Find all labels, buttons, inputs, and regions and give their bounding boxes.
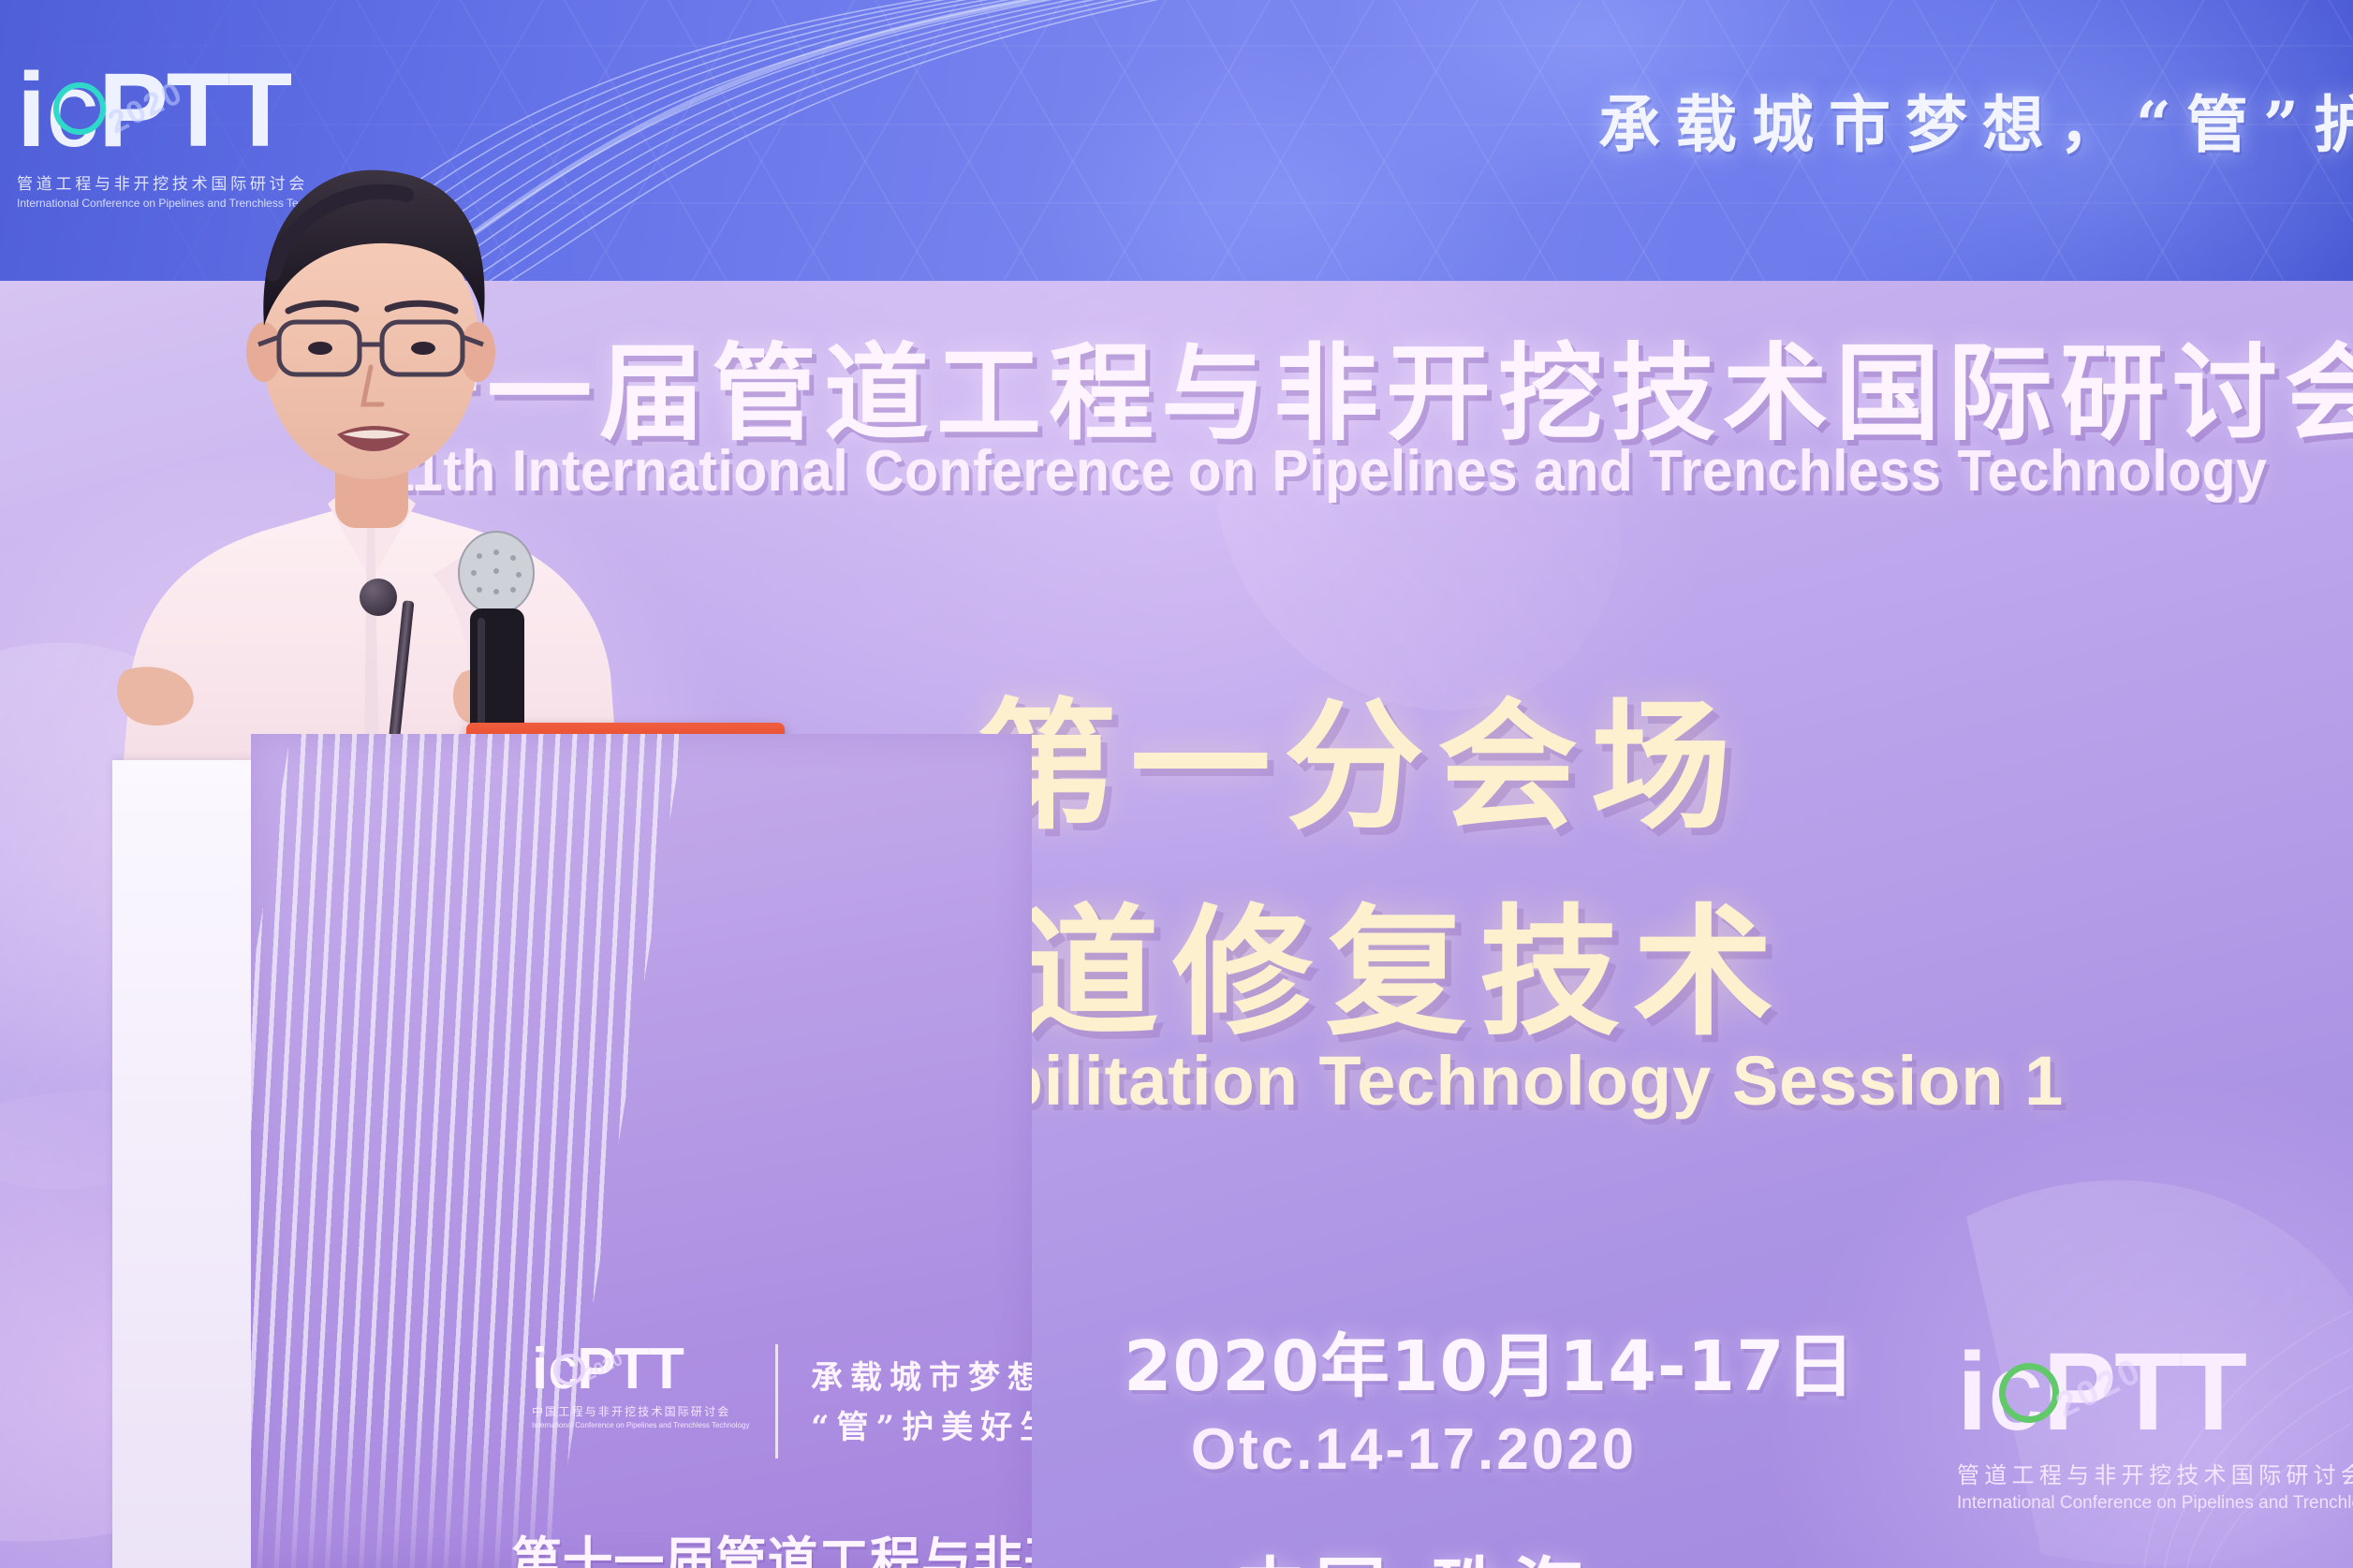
logo-subtitle-cn: 管道工程与非开挖技术国际研讨会 [1957,1457,2353,1489]
logo-subtitle-en: International Conference on Pipelines an… [1957,1493,2353,1514]
logo-letter-i: i [532,1341,548,1399]
logo-ring-icon [1999,1363,2059,1423]
podium-slogan: 承载城市梦想 “管”护美好生活 [811,1354,1032,1452]
logo-letter-i: i [17,58,46,163]
logo-letter-i: i [1957,1337,1988,1447]
podium-divider [775,1344,778,1458]
backdrop-date-cn: 2020年10月14-17日 [1124,1311,1704,1411]
podium-title-cn: 第十一届管道工程与非开挖技术国际研讨会 [511,1520,1032,1568]
backdrop-location-cn: 中国·珠海 [1124,1533,1704,1568]
logo-subtitle-en: International Conference on Pipelines an… [532,1421,749,1429]
logo-wordmark: i c PTT [532,1341,749,1399]
podium-stripe-pattern [251,734,685,1568]
podium-slogan-line1: 承载城市梦想 [811,1354,1032,1403]
speaker-person [90,112,689,824]
backdrop-date-en: Otc.14-17.2020 [1124,1416,1704,1483]
logo-subtitle-cn: 中国工程与非开挖技术国际研讨会 [532,1403,749,1419]
podium-front-panel: i c PTT 2020 中国工程与非开挖技术国际研讨会 Internation… [251,734,1032,1568]
logo-letter-c: c [548,1341,577,1399]
logo-ring-icon [553,1354,585,1385]
podium-left-panel [112,760,253,1568]
logo-letter-c: c [1988,1337,2043,1447]
backdrop-date-location-block: 2020年10月14-17日 Otc.14-17.2020 中国·珠海 Zhuh… [1124,1311,1704,1568]
icptt-logo-podium: i c PTT 2020 中国工程与非开挖技术国际研讨会 Internation… [532,1341,749,1429]
icptt-logo-bottom-right: i c PTT 2020 管道工程与非开挖技术国际研讨会 Internation… [1957,1337,2353,1514]
speaker-figure [90,112,689,824]
conference-photo-stage: i c PTT 2020 管道工程与非开挖技术国际研讨会 Internation… [0,0,2353,1568]
banner-calligraphy-slogan: 承载城市梦想，“管”护 [1598,75,2353,165]
podium-slogan-line2: “管”护美好生活 [811,1403,1032,1453]
backdrop-session-cn-line1: 第一分会场 [977,653,1744,857]
podium-microphone-head-icon [360,579,397,616]
logo-wordmark: i c PTT [1957,1337,2353,1447]
